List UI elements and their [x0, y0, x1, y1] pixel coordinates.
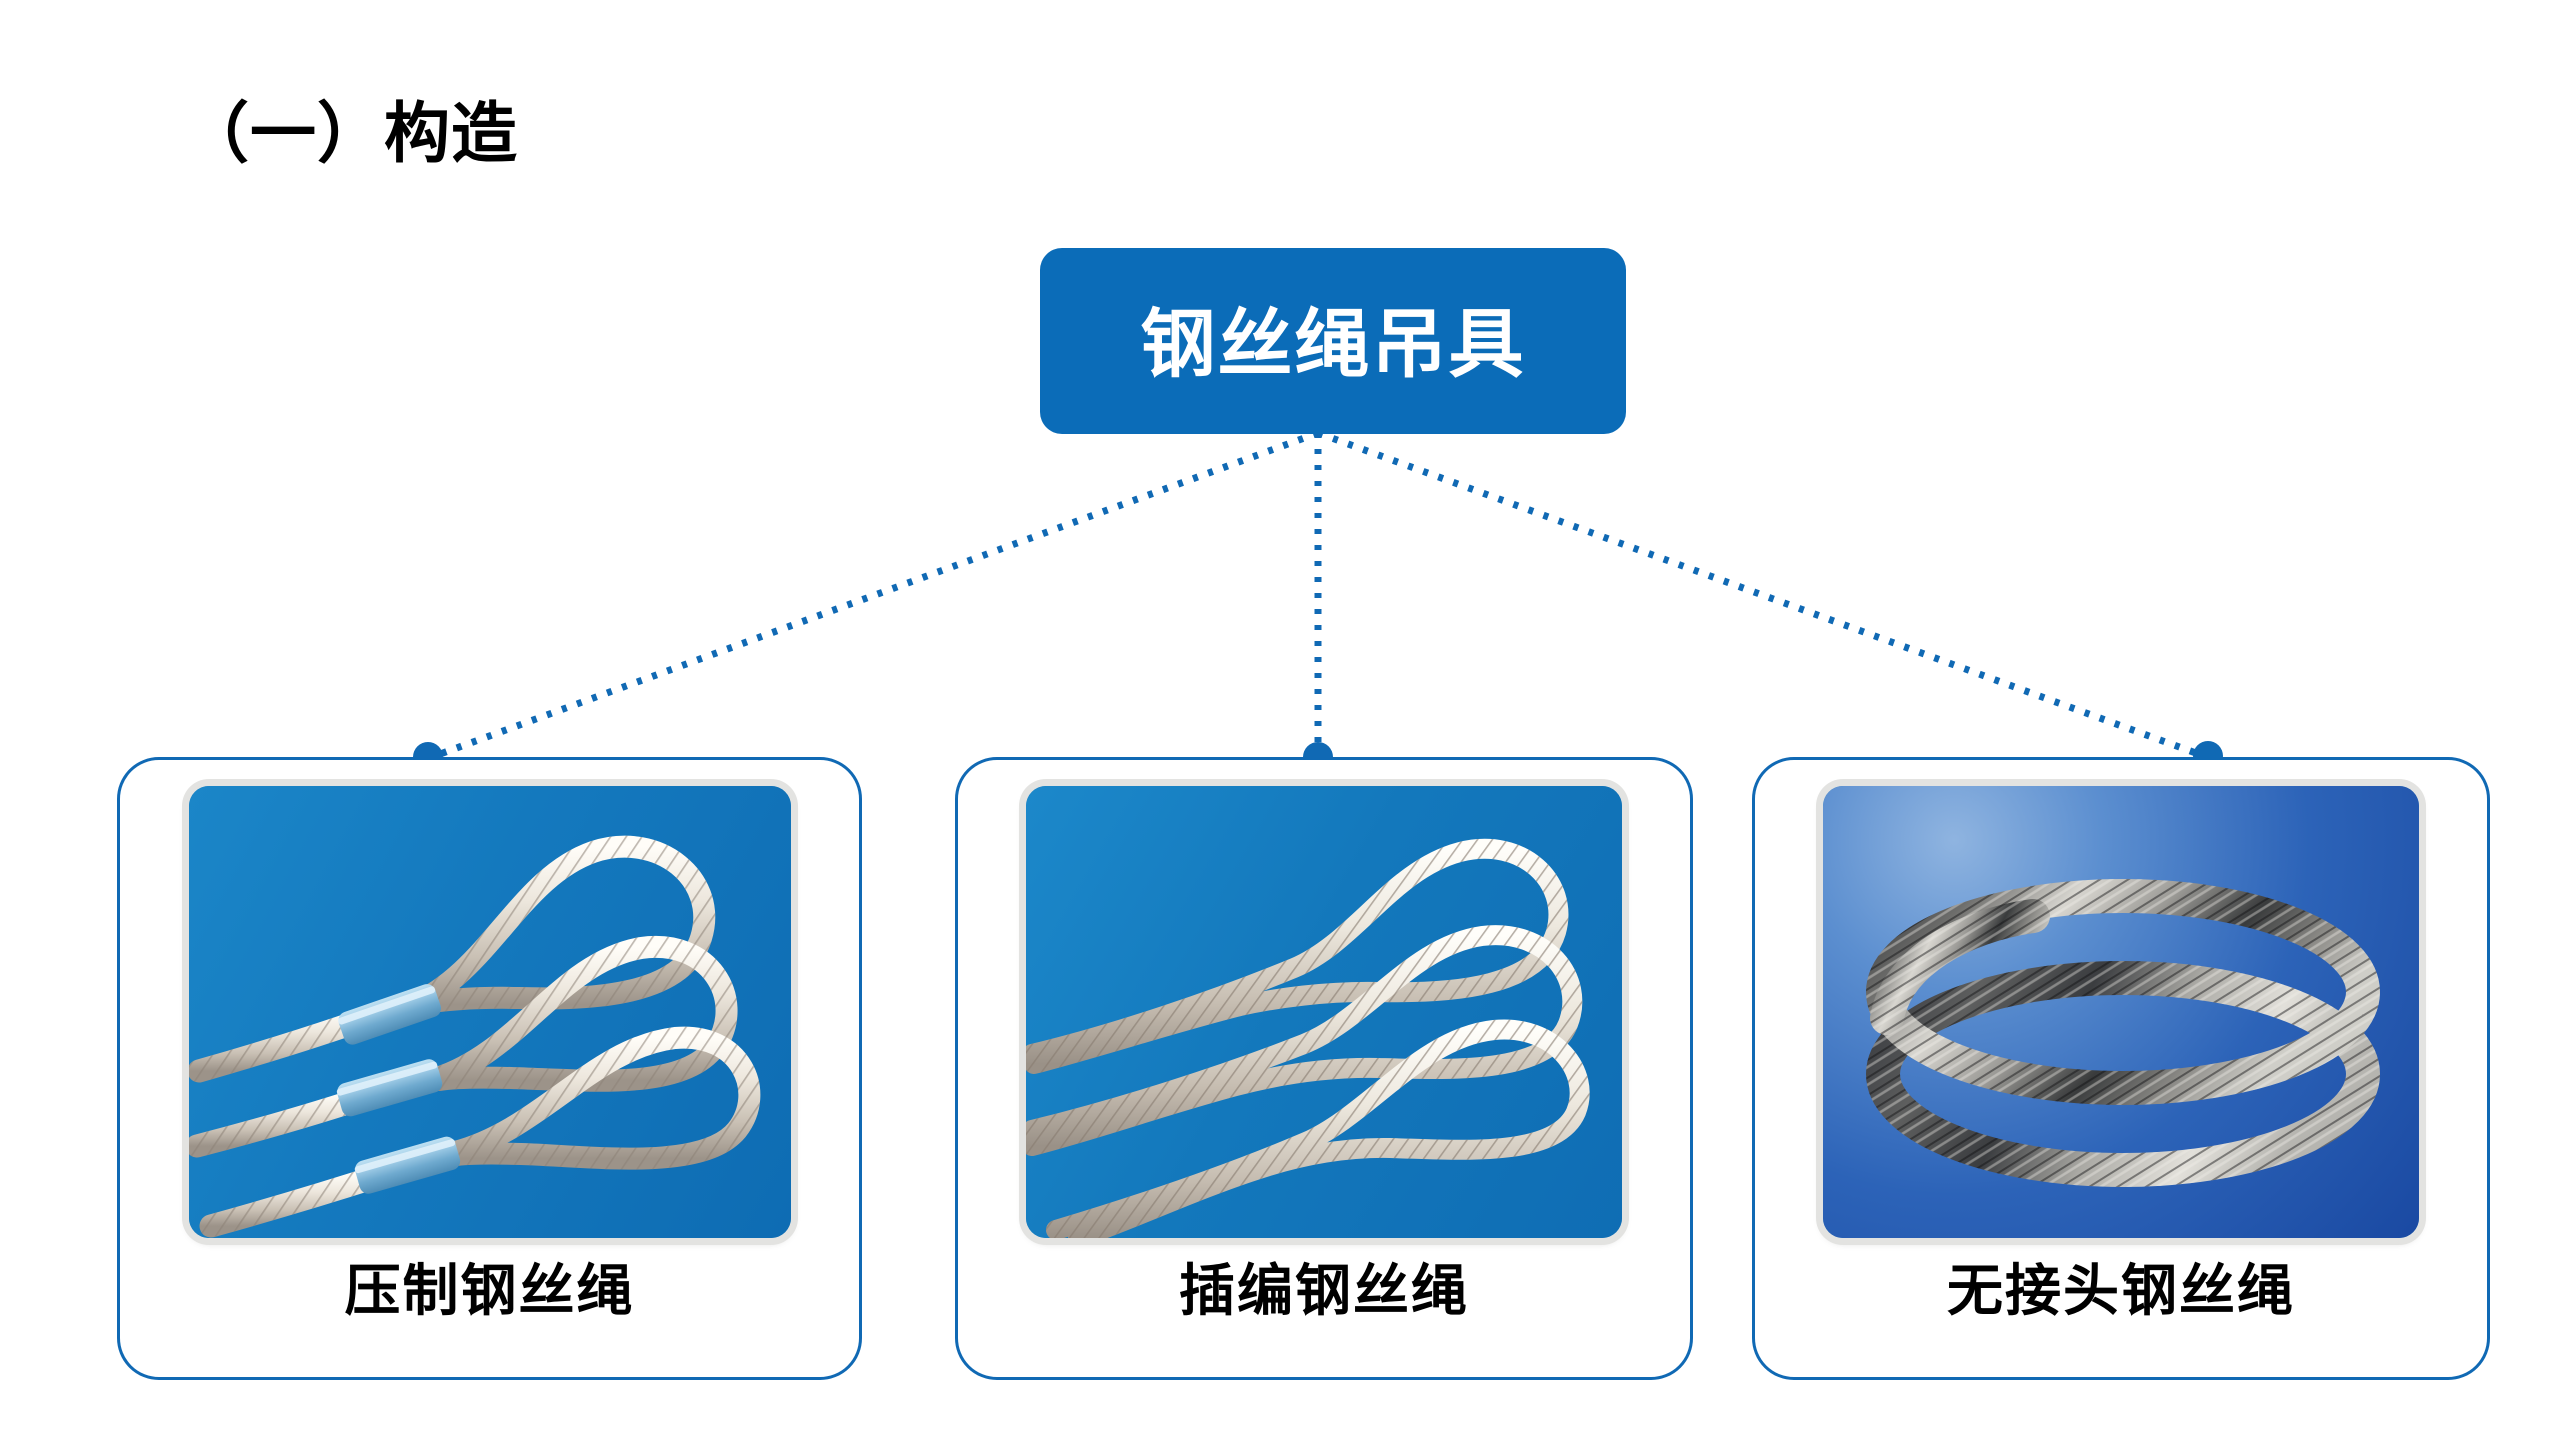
connector-line-left	[432, 433, 1318, 757]
endless-wire-rope-grommet-illustration	[1823, 786, 2419, 1238]
category-label-pressed: 压制钢丝绳	[345, 1260, 635, 1322]
category-card-endless[interactable]: 无接头钢丝绳	[1752, 757, 2490, 1380]
category-card-pressed[interactable]: 压制钢丝绳	[117, 757, 862, 1380]
category-card-braided[interactable]: 插编钢丝绳	[955, 757, 1693, 1380]
root-node-wire-rope-sling[interactable]: 钢丝绳吊具	[1040, 248, 1626, 434]
category-label-braided: 插编钢丝绳	[1179, 1260, 1469, 1322]
braided-wire-rope-sling-illustration	[1026, 786, 1622, 1238]
category-label-endless: 无接头钢丝绳	[1947, 1260, 2295, 1322]
thumbnail-endless-wire-rope	[1823, 786, 2419, 1238]
thumbnail-braided-wire-rope	[1026, 786, 1622, 1238]
pressed-wire-rope-sling-illustration	[189, 786, 791, 1238]
connector-line-right	[1318, 433, 2204, 756]
thumbnail-pressed-wire-rope	[189, 786, 791, 1238]
root-node-label: 钢丝绳吊具	[1140, 307, 1525, 382]
page-title: （一）构造	[183, 96, 518, 172]
slide-canvas: （一）构造 钢丝绳吊具	[0, 0, 2560, 1440]
